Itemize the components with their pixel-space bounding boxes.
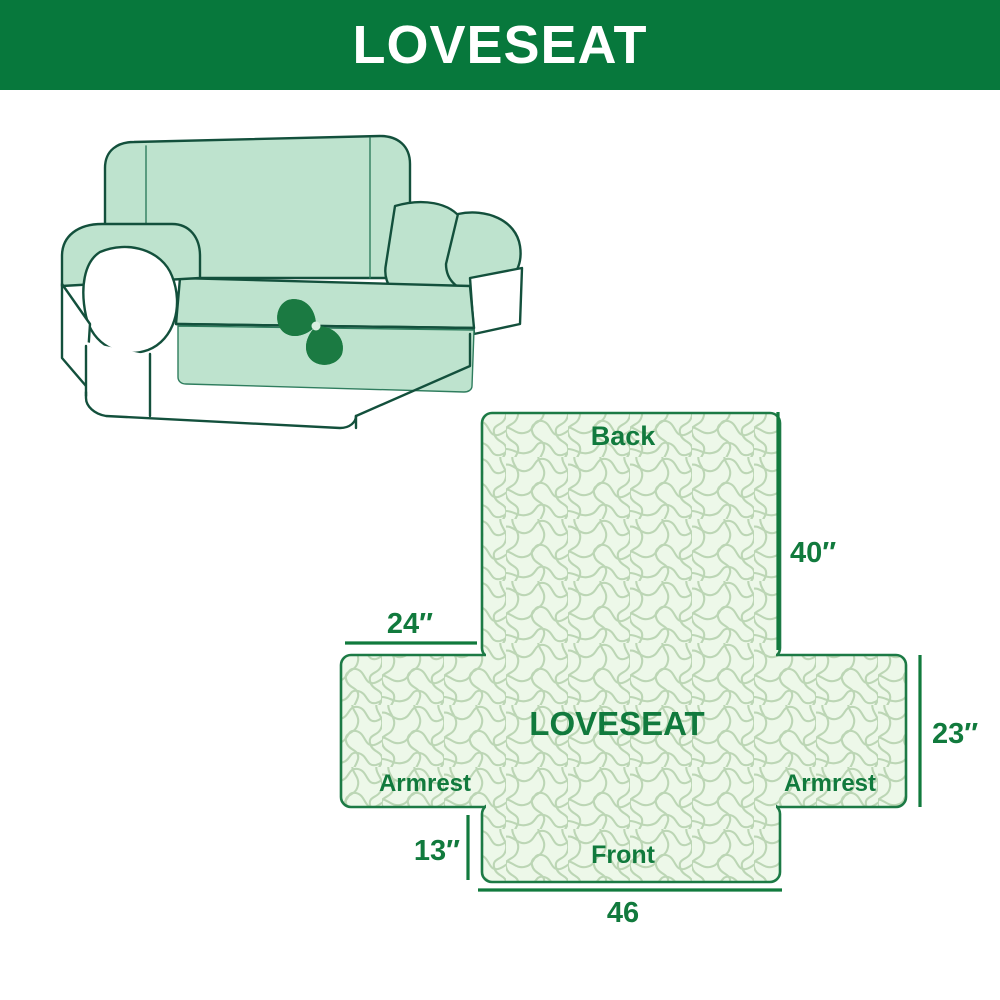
page-header: LOVESEAT	[0, 0, 1000, 90]
dimension-back-height-label: 40″	[790, 537, 836, 569]
sofa-seat	[176, 278, 474, 328]
panel-armrest-left-label: Armrest	[379, 770, 471, 797]
dimension-back-width: 24″	[345, 608, 477, 643]
panel-front-label: Front	[591, 841, 656, 869]
dimension-front-height: 13″	[414, 815, 468, 880]
dimension-total-width: 46	[478, 890, 782, 929]
product-dimension-infographic: LOVESEAT .olin{fill:none;stroke:#13503C;…	[0, 0, 1000, 1000]
dimension-total-width-label: 46	[607, 897, 639, 929]
dimension-back-height: 40″	[778, 412, 836, 650]
center-label: LOVESEAT	[529, 705, 704, 742]
dimension-front-height-label: 13″	[414, 835, 460, 867]
panel-back-label: Back	[591, 421, 657, 451]
panel-armrest-right-label: Armrest	[784, 770, 876, 797]
dimension-armrest-height-label: 23″	[932, 718, 978, 750]
dimension-armrest-height: 23″	[920, 655, 978, 807]
dimension-back-width-label: 24″	[387, 608, 433, 640]
page-title: LOVESEAT	[352, 18, 647, 72]
cover-layout-diagram: .plate{fill:url(#quilt);stroke:#1C7A45;s…	[320, 395, 1000, 965]
